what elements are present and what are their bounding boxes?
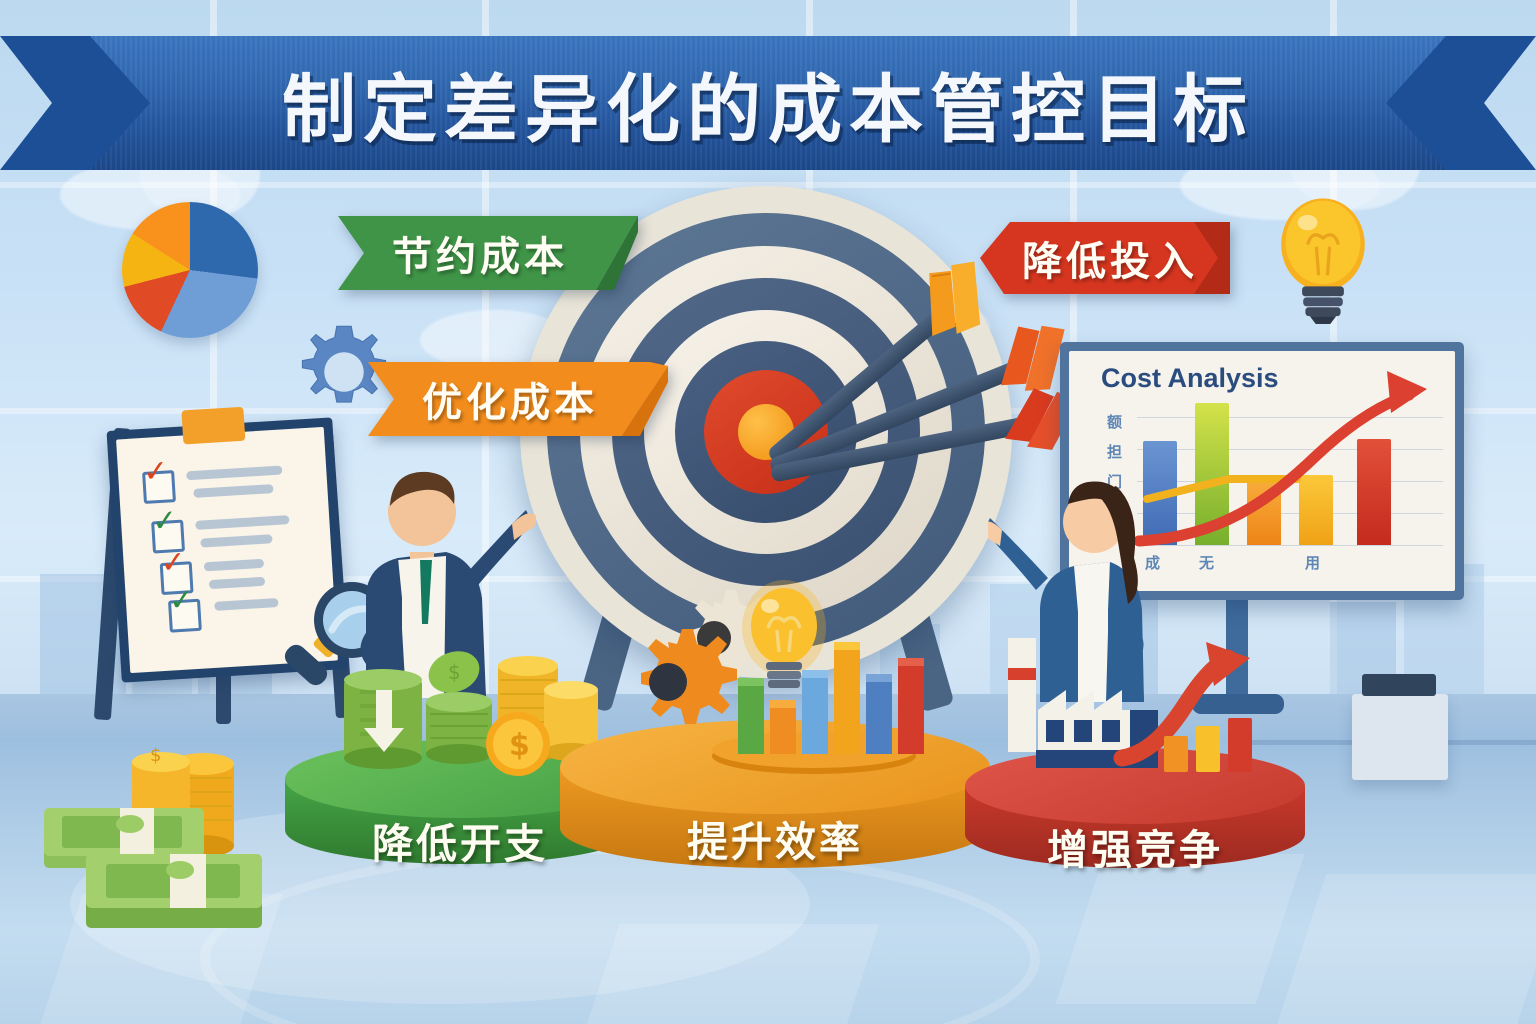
svg-text:$: $ bbox=[509, 728, 530, 763]
chart-title: Cost Analysis bbox=[1101, 363, 1279, 394]
check-icon-3: ✓ bbox=[160, 550, 187, 577]
podium-orange-label: 提升效率 bbox=[560, 808, 990, 868]
page-title: 制定差异化的成本管控目标 bbox=[0, 36, 1536, 170]
check-icon-1: ✓ bbox=[142, 458, 169, 485]
podium-red-label: 增强竞争 bbox=[965, 816, 1305, 876]
x-tick-1: 无 bbox=[1199, 552, 1214, 573]
ribbon-orange-label: 优化成本 bbox=[368, 370, 598, 428]
check-icon-4: ✓ bbox=[168, 587, 195, 614]
ribbon-red-label: 降低投入 bbox=[980, 229, 1198, 287]
pedestal-object bbox=[1362, 674, 1436, 696]
ribbon-orange[interactable]: 优化成本 bbox=[368, 362, 668, 436]
ribbon-red[interactable]: 降低投入 bbox=[980, 222, 1230, 294]
title-banner: 制定差异化的成本管控目标 bbox=[0, 36, 1536, 170]
pie-chart-icon bbox=[122, 202, 258, 338]
x-tick-2: 用 bbox=[1305, 552, 1320, 573]
lightbulb-icon bbox=[1268, 196, 1378, 328]
infographic-canvas: 制定差异化的成本管控目标 bbox=[0, 0, 1536, 1024]
ribbon-green-label: 节约成本 bbox=[338, 224, 568, 282]
clipboard-clip bbox=[181, 407, 245, 445]
money-foreground: $ bbox=[22, 704, 352, 958]
svg-text:$: $ bbox=[448, 660, 461, 684]
display-pedestal bbox=[1352, 694, 1448, 780]
red-podium-props bbox=[988, 624, 1278, 788]
orange-podium-props bbox=[622, 578, 942, 782]
ribbon-green[interactable]: 节约成本 bbox=[338, 216, 638, 290]
check-icon-2: ✓ bbox=[151, 508, 178, 535]
svg-text:$: $ bbox=[150, 745, 161, 766]
